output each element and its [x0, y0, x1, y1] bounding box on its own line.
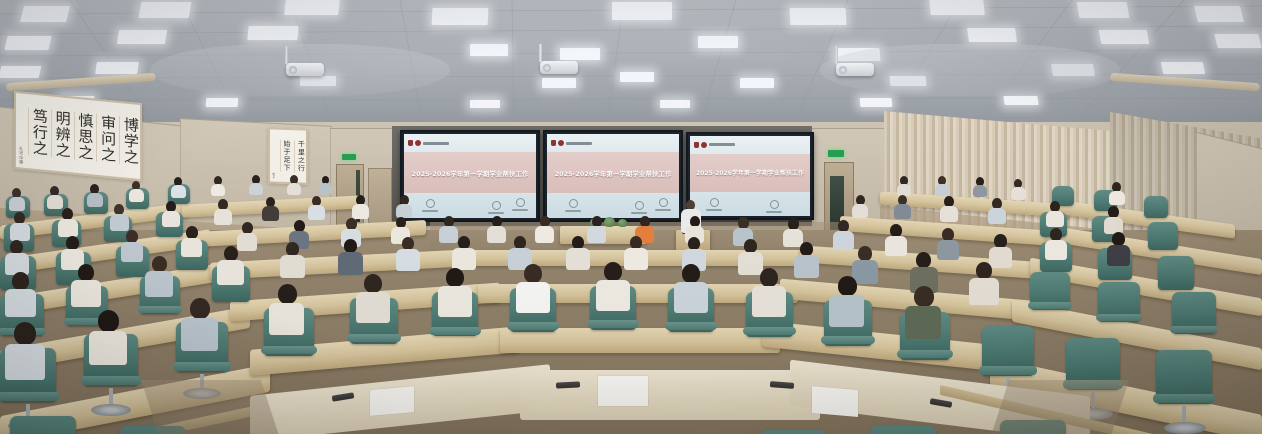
front-desk-top — [520, 370, 820, 420]
ceiling-light-panel — [1077, 2, 1130, 18]
ceiling-light-panel — [1003, 96, 1038, 105]
university-wordmark — [709, 143, 735, 146]
ceiling-light-panel — [660, 100, 690, 108]
calligraphy-signature-left: 礼记·中庸 — [18, 146, 24, 164]
university-seal-icon — [558, 140, 564, 146]
university-wordmark — [423, 142, 449, 145]
ceiling-light-panel — [20, 6, 70, 22]
calligraphy-column: 始于足下 — [280, 140, 290, 172]
ceiling-light-panel — [1194, 6, 1244, 22]
footer-logo-b — [766, 200, 782, 213]
desk-paper — [598, 376, 648, 406]
aisle-right — [991, 380, 1129, 434]
ceiling-light-panel — [470, 100, 500, 108]
exit-sign-right — [828, 150, 844, 157]
ceiling-light-panel — [1161, 62, 1206, 74]
footer-logo-b — [488, 201, 504, 214]
aisle-left — [141, 380, 279, 434]
footer-logo-c — [655, 198, 671, 211]
university-shield-icon — [551, 140, 556, 146]
ceiling-light-panel — [698, 36, 738, 48]
slide-center: 2025-2026学年第一学期学业帮扶工作 — [547, 134, 679, 218]
ceiling-light-panel — [1214, 34, 1261, 48]
floor — [0, 230, 1262, 434]
slide-title-band: 2025-2026学年第一学期学业帮扶工作 — [404, 152, 536, 192]
ceiling-light-panel — [542, 78, 576, 88]
slide-title-text: 2025-2026学年第一学期学业帮扶工作 — [412, 168, 529, 178]
ceiling-light-panel — [470, 44, 508, 56]
desk-paper — [370, 386, 414, 416]
slide-header — [404, 134, 536, 152]
ceiling-light-panel — [95, 62, 139, 74]
ceiling-light-panel — [860, 98, 893, 107]
footer-logo-a — [565, 199, 581, 212]
ceiling-light-panel — [790, 8, 847, 25]
slide-title-text: 2025-2026学年第一学期学业帮扶工作 — [555, 168, 672, 178]
footer-logo-b — [631, 201, 647, 214]
footer-logo-a — [706, 198, 722, 211]
ceiling-light-panel — [0, 66, 41, 78]
projection-screen-center: 2025-2026学年第一学期学业帮扶工作 — [543, 130, 683, 222]
table-plant — [604, 217, 615, 227]
ceiling-light-panel — [4, 36, 51, 50]
lecture-hall-photo: 礼记·中庸 笃行之 明辨之 慎思之 审问之 博学之 老子 始于足下 千里之行 — [0, 0, 1262, 434]
footer-logo-a — [422, 199, 438, 212]
calligraphy-column: 博学之 — [119, 116, 138, 166]
slide-right: 2025-2026学年第一学期学业帮扶工作 — [690, 136, 810, 216]
slide-footer — [690, 192, 810, 216]
ceiling-light-panel — [560, 48, 600, 60]
footer-logo-c — [512, 198, 528, 211]
calligraphy-banner-left: 礼记·中庸 笃行之 明辨之 慎思之 审问之 博学之 — [14, 91, 142, 181]
ceiling — [0, 0, 1262, 132]
projection-screen-right: 2025-2026学年第一学期学业帮扶工作 — [686, 132, 814, 220]
ceiling-light-panel — [117, 30, 167, 44]
ceiling-light-panel — [247, 26, 298, 40]
ceiling-light-panel — [139, 2, 192, 18]
slide-title-text: 2025-2026学年第一学期学业帮扶工作 — [696, 168, 804, 177]
table-plant — [618, 219, 627, 227]
calligraphy-column: 慎思之 — [74, 112, 93, 162]
calligraphy-column: 审问之 — [96, 114, 115, 164]
calligraphy-column: 笃行之 — [28, 107, 47, 157]
ceiling-light-panel — [967, 28, 1017, 42]
desk-microphone[interactable] — [556, 381, 580, 388]
ceiling-light-panel — [1099, 30, 1150, 44]
university-seal-icon — [701, 142, 707, 148]
slide-header — [547, 134, 679, 152]
ceiling-light-panel — [612, 2, 672, 20]
calligraphy-signature-center: 老子 — [272, 172, 276, 178]
university-shield-icon — [694, 142, 699, 148]
university-shield-icon — [408, 140, 413, 146]
desk-paper — [812, 386, 858, 417]
university-seal-icon — [415, 140, 421, 146]
slide-footer — [547, 193, 679, 218]
calligraphy-column: 千里之行 — [294, 140, 304, 172]
exit-sign-left — [342, 154, 356, 160]
ceiling-light-panel — [740, 78, 774, 88]
projection-screen-left: 2025-2026学年第一学期学业帮扶工作 — [400, 130, 540, 222]
slide-title-band: 2025-2026学年第一学期学业帮扶工作 — [690, 154, 810, 192]
slide-header — [690, 136, 810, 154]
slide-title-band: 2025-2026学年第一学期学业帮扶工作 — [547, 152, 679, 192]
ceiling-light-panel — [284, 0, 340, 15]
calligraphy-column: 明辨之 — [51, 109, 70, 159]
ceiling-light-panel — [620, 72, 654, 82]
slide-left: 2025-2026学年第一学期学业帮扶工作 — [404, 134, 536, 218]
ceiling-light-panel — [432, 8, 489, 25]
ceiling-light-panel — [206, 98, 239, 107]
calligraphy-frame-center: 老子 始于足下 千里之行 — [268, 127, 308, 184]
university-wordmark — [566, 142, 592, 145]
ceiling-light-panel — [929, 0, 985, 15]
slide-footer — [404, 193, 536, 218]
